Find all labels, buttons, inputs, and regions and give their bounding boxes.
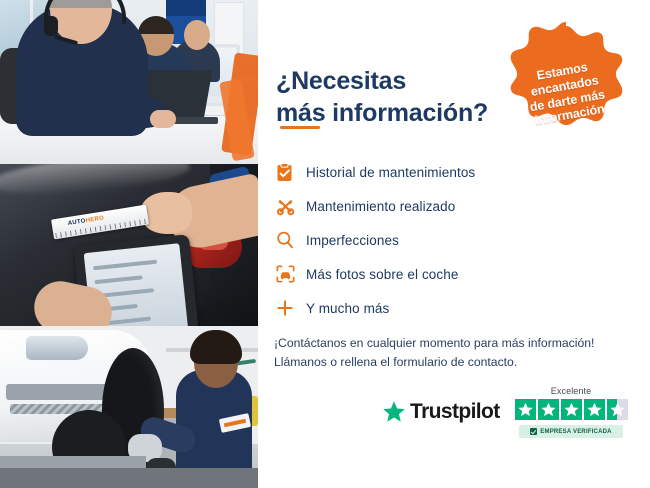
background-person-head bbox=[184, 20, 210, 50]
feature-label: Mantenimiento realizado bbox=[306, 199, 455, 214]
car-inspection-photo: AUTOHERO bbox=[0, 164, 258, 326]
star-4 bbox=[584, 399, 605, 420]
feature-label: Más fotos sobre el coche bbox=[306, 267, 458, 282]
verified-company-badge: EMPRESA VERIFICADA bbox=[519, 425, 623, 438]
page-title: ¿Necesitas más información? bbox=[276, 65, 522, 129]
clipboard-check-icon bbox=[276, 161, 306, 183]
star-3 bbox=[561, 399, 582, 420]
feature-item-imperfections: Imperfecciones bbox=[276, 224, 606, 256]
title-underline-rule bbox=[280, 126, 320, 129]
trustpilot-wordmark: Trustpilot bbox=[410, 400, 500, 424]
promo-card: AUTOHERO bbox=[0, 0, 650, 488]
inspector-hand bbox=[140, 192, 192, 234]
call-center-agents-photo bbox=[0, 0, 258, 164]
check-icon bbox=[530, 428, 537, 435]
contact-line-1: ¡Contáctanos en cualquier momento para m… bbox=[274, 334, 634, 353]
verified-company-label: EMPRESA VERIFICADA bbox=[540, 429, 611, 435]
car-scan-icon bbox=[276, 263, 306, 285]
trustpilot-stars bbox=[510, 399, 632, 420]
trustpilot-logo[interactable]: Trustpilot bbox=[382, 400, 500, 424]
car-headlight bbox=[26, 336, 88, 360]
trustpilot-star-icon bbox=[382, 400, 406, 424]
plus-icon bbox=[276, 297, 306, 319]
content-panel: ¿Necesitas más información? Estamos enca… bbox=[258, 0, 650, 488]
photo-column: AUTOHERO bbox=[0, 0, 258, 488]
workshop-floor bbox=[0, 468, 258, 488]
star-5-half bbox=[607, 399, 628, 420]
headset-earcup bbox=[44, 16, 58, 36]
tools-cross-icon bbox=[276, 195, 306, 217]
support-starburst-badge: Estamos encantados de darte más informac… bbox=[502, 22, 630, 146]
feature-list: Historial de mantenimientos M bbox=[276, 156, 606, 326]
star-2 bbox=[538, 399, 559, 420]
contact-line-2: Llámanos o rellena el formulario de cont… bbox=[274, 353, 634, 372]
trustpilot-score: Excelente bbox=[510, 386, 632, 438]
feature-label: Imperfecciones bbox=[306, 233, 399, 248]
feature-item-maintenance-history: Historial de mantenimientos bbox=[276, 156, 606, 188]
page-title-line-2: más información? bbox=[276, 97, 522, 129]
feature-item-maintenance-done: Mantenimiento realizado bbox=[276, 190, 606, 222]
contact-paragraph: ¡Contáctanos en cualquier momento para m… bbox=[274, 334, 634, 372]
feature-item-and-more: Y mucho más bbox=[276, 292, 606, 324]
star-1 bbox=[515, 399, 536, 420]
trustpilot-rating-block: Trustpilot Excelente bbox=[382, 386, 632, 450]
headset-icon bbox=[502, 22, 526, 44]
front-agent-hand bbox=[150, 110, 176, 128]
page-title-line-1: ¿Necesitas bbox=[276, 67, 406, 95]
workshop-wheel-photo bbox=[0, 326, 258, 488]
feature-label: Historial de mantenimientos bbox=[306, 165, 475, 180]
feature-label: Y mucho más bbox=[306, 301, 389, 316]
blue-wall-panel-top bbox=[166, 0, 206, 16]
feature-item-more-photos: Más fotos sobre el coche bbox=[276, 258, 606, 290]
magnifier-icon bbox=[276, 229, 306, 251]
trustpilot-rating-label: Excelente bbox=[510, 386, 632, 396]
